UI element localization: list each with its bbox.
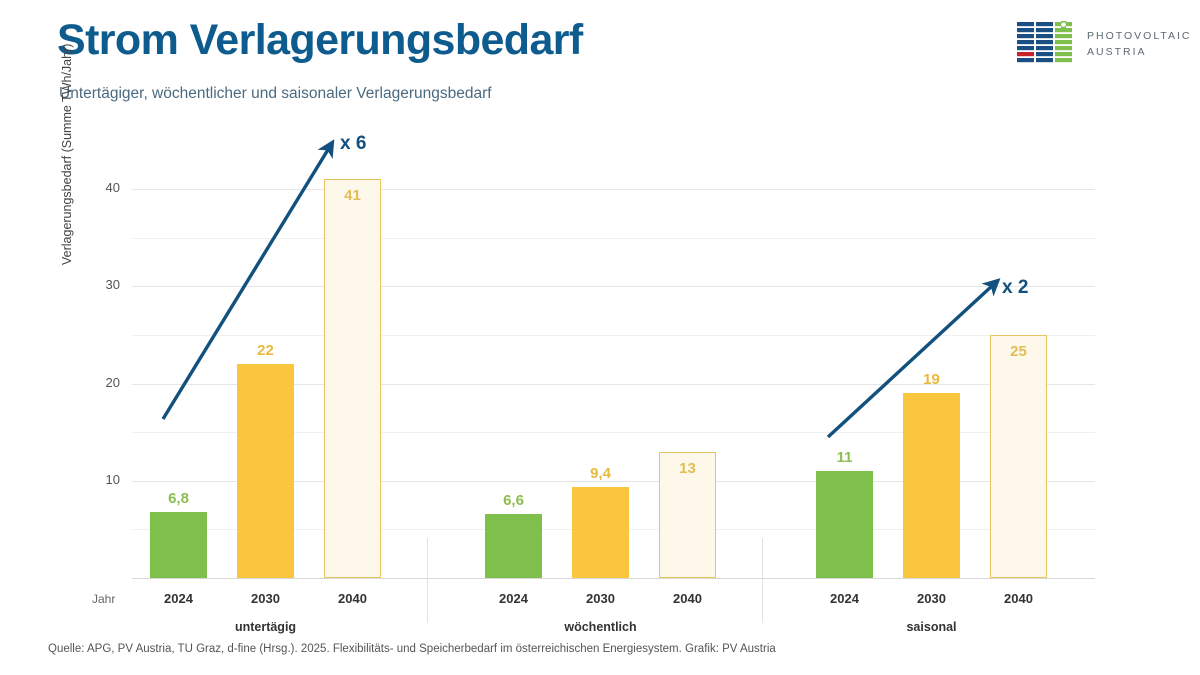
x-axis-tick-label: 2030 [225,591,306,606]
group-label: untertägig [186,620,346,634]
x-axis-tick-label: 2040 [978,591,1059,606]
gridline-minor [132,335,1095,336]
bar[interactable] [485,514,542,578]
gridline-major [132,286,1095,287]
y-axis-title: Verlagerungsbedarf (Summe TWh/Jahr) [60,5,74,265]
page-title: Strom Verlagerungsbedarf [57,17,583,64]
x-axis-tick-label: 2030 [560,591,641,606]
x-axis-tick-label: 2024 [138,591,219,606]
logo-wordmark: PHOTOVOLTAIC AUSTRIA [1087,28,1192,61]
bar-value-label: 13 [647,460,728,477]
x-axis-baseline [132,578,1095,579]
bar-value-label: 41 [312,187,393,204]
bar-value-label: 22 [225,342,306,359]
photovoltaic-austria-logo-icon [1017,21,1075,67]
y-axis-tick-label: 10 [80,472,120,487]
bar-value-label: 9,4 [560,465,641,482]
x-axis-tick-label: 2030 [891,591,972,606]
source-note: Quelle: APG, PV Austria, TU Graz, d-fine… [48,643,776,655]
bar-chart: Verlagerungsbedarf (Summe TWh/Jahr) 1020… [0,120,1200,630]
page-subtitle: Untertägiger, wöchentlicher und saisonal… [59,85,492,103]
x-axis-tick-label: 2040 [647,591,728,606]
group-separator [762,538,763,623]
x-axis-tick-label: 2040 [312,591,393,606]
bar[interactable] [903,393,960,578]
logo: PHOTOVOLTAIC AUSTRIA [1017,21,1182,69]
bar[interactable] [816,471,873,578]
group-label: wöchentlich [521,620,681,634]
x-axis-tick-label: 2024 [804,591,885,606]
bar[interactable] [150,512,207,578]
logo-line-photovoltaic: PHOTOVOLTAIC [1087,28,1192,44]
plot-area: Verlagerungsbedarf (Summe TWh/Jahr) 1020… [132,160,1095,578]
bar[interactable] [324,179,381,578]
header: Strom Verlagerungsbedarf Untertägiger, w… [0,0,1200,120]
bar-value-label: 25 [978,343,1059,360]
logo-line-austria: AUSTRIA [1087,44,1192,60]
y-axis-tick-label: 30 [80,277,120,292]
gridline-major [132,189,1095,190]
gridline-minor [132,238,1095,239]
x-axis-tick-label: 2024 [473,591,554,606]
bar[interactable] [237,364,294,578]
bar[interactable] [572,487,629,578]
bar-value-label: 11 [804,449,885,466]
group-label: saisonal [852,620,1012,634]
bar-value-label: 6,8 [138,490,219,507]
bar[interactable] [990,335,1047,578]
group-separator [427,538,428,623]
bar-value-label: 19 [891,371,972,388]
x-axis-name-label: Jahr [92,592,115,606]
bar-value-label: 6,6 [473,492,554,509]
y-axis-tick-label: 20 [80,375,120,390]
y-axis-tick-label: 40 [80,180,120,195]
